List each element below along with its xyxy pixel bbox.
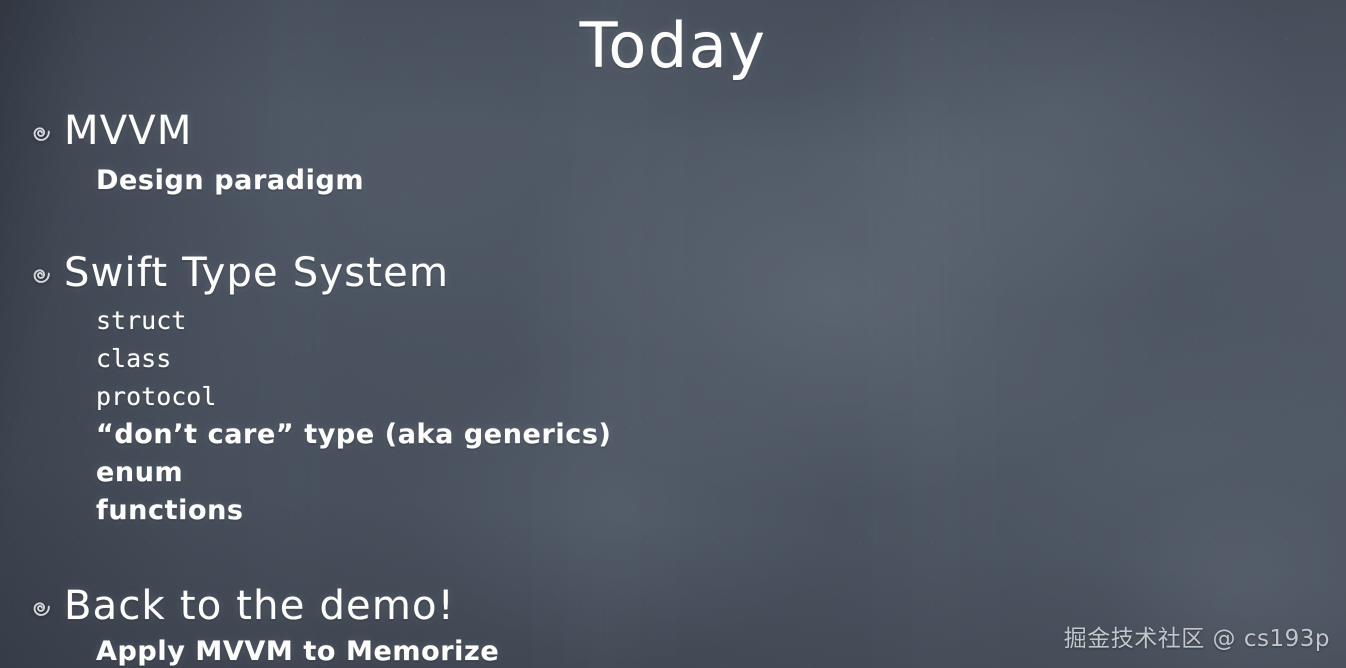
bullet-heading-row: Back to the demo! xyxy=(0,583,760,629)
sub-item: struct xyxy=(0,302,760,340)
bullet-list: MVVM Design paradigm Swift Type System xyxy=(0,108,760,668)
sub-item: enum xyxy=(0,454,760,492)
bullet-group-mvvm: MVVM Design paradigm xyxy=(0,108,760,200)
sub-item: functions xyxy=(0,492,760,530)
spiral-swirl-icon xyxy=(30,264,52,286)
sub-item-list: Design paradigm xyxy=(0,162,760,200)
sub-item: “don’t care” type (aka generics) xyxy=(0,416,760,454)
sub-item: class xyxy=(0,340,760,378)
bullet-heading-row: MVVM xyxy=(0,108,760,154)
sub-item: Design paradigm xyxy=(0,162,760,200)
sub-item-list: Apply MVVM to Memorize xyxy=(0,633,760,668)
bullet-heading: Back to the demo! xyxy=(64,583,455,629)
bullet-heading: MVVM xyxy=(64,108,193,154)
spiral-swirl-icon xyxy=(30,122,52,144)
page-title: Today xyxy=(0,2,1346,90)
bullet-heading-row: Swift Type System xyxy=(0,250,760,296)
sub-item-list: struct class protocol “don’t care” type … xyxy=(0,302,760,530)
chalkboard-slide: Today MVVM Design paradigm xyxy=(0,0,1346,668)
sub-item: protocol xyxy=(0,378,760,416)
spiral-swirl-icon xyxy=(30,597,52,619)
slide-content: Today MVVM Design paradigm xyxy=(0,0,1346,668)
bullet-group-back-to-demo: Back to the demo! Apply MVVM to Memorize xyxy=(0,583,760,668)
sub-item: Apply MVVM to Memorize xyxy=(0,633,760,668)
bullet-group-swift-type-system: Swift Type System struct class protocol … xyxy=(0,250,760,530)
bullet-heading: Swift Type System xyxy=(64,250,449,296)
watermark: 掘金技术社区 @ cs193p xyxy=(1064,624,1330,654)
